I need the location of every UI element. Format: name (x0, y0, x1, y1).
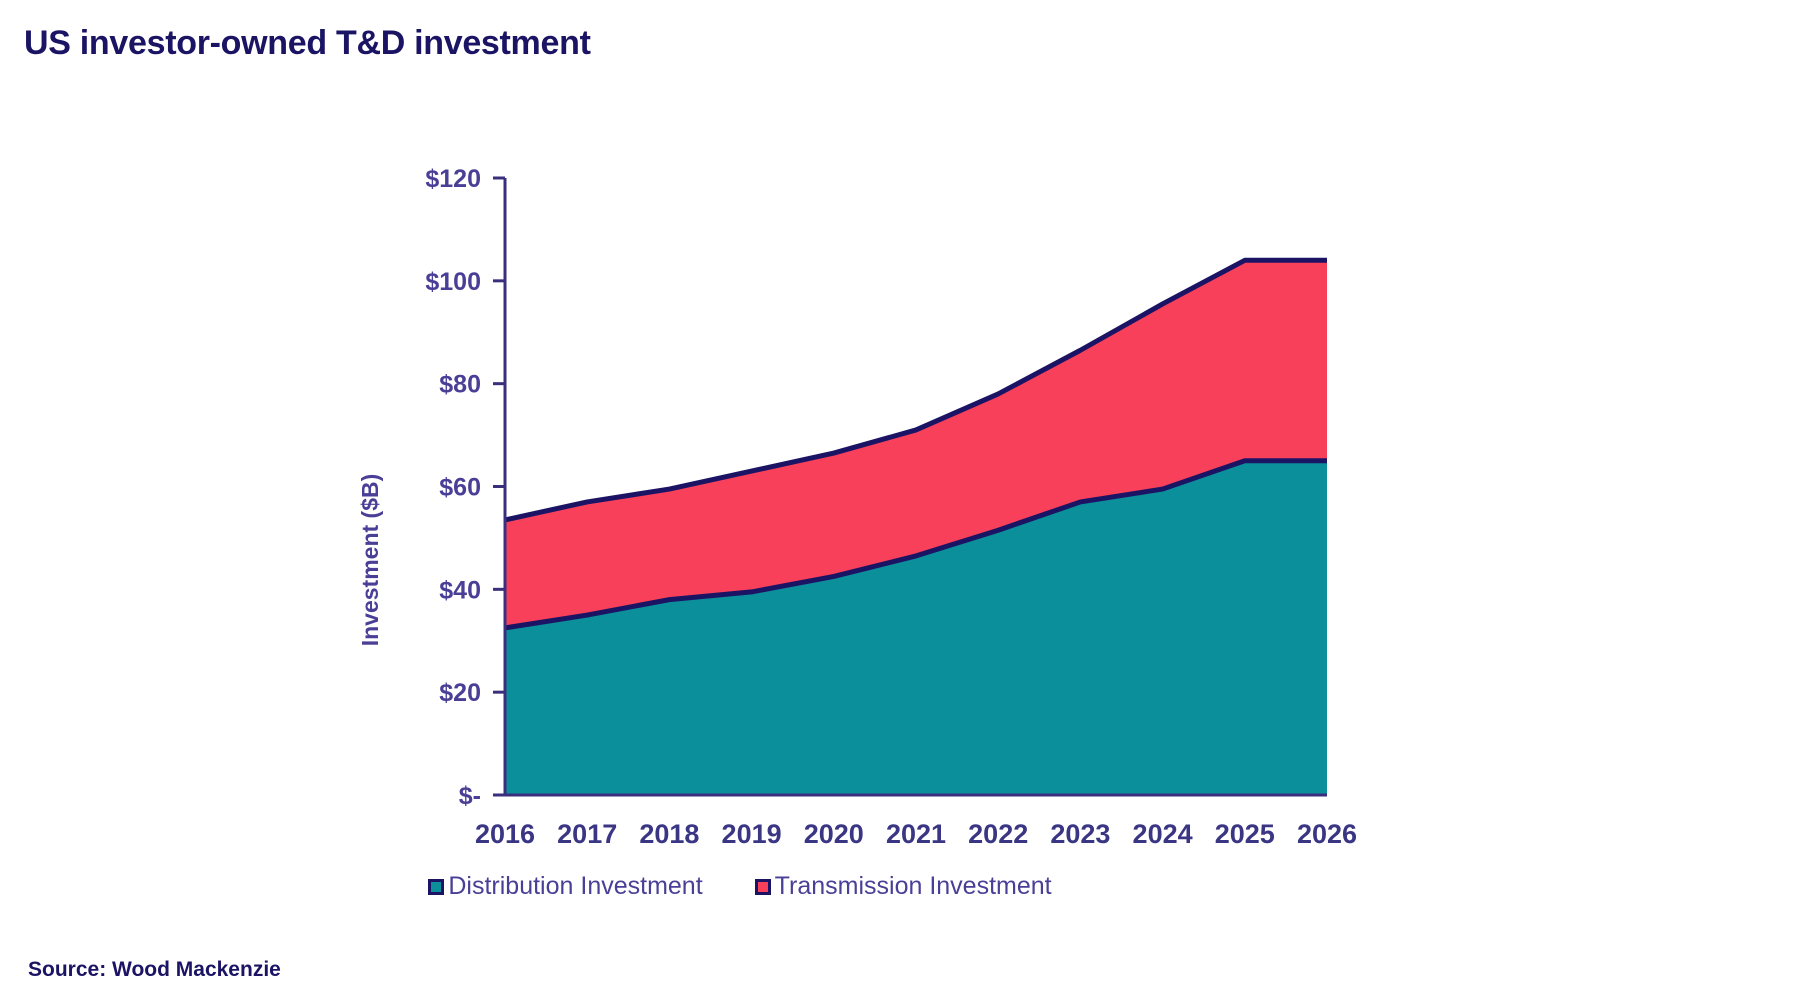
x-tick-label: 2022 (968, 819, 1028, 849)
legend-label-distribution: Distribution Investment (448, 872, 702, 901)
page-title: US investor-owned T&D investment (24, 24, 591, 63)
x-tick-label: 2026 (1297, 819, 1357, 849)
x-tick-label: 2018 (639, 819, 699, 849)
x-tick-label: 2025 (1215, 819, 1275, 849)
x-axis-tick-labels: 2016201720182019202020212022202320242025… (475, 819, 1357, 849)
y-tick-label: $40 (439, 576, 481, 604)
legend-item-transmission[interactable]: Transmission Investment (755, 872, 1052, 901)
x-tick-label: 2023 (1050, 819, 1110, 849)
x-tick-label: 2021 (886, 819, 946, 849)
x-tick-label: 2020 (804, 819, 864, 849)
y-tick-label: $- (459, 782, 481, 810)
y-tick-label: $100 (425, 268, 481, 296)
x-tick-label: 2019 (722, 819, 782, 849)
y-tick-label: $80 (439, 371, 481, 399)
stacked-area-chart: $-$20$40$60$80$100$120 20162017201820192… (0, 130, 1480, 930)
x-tick-label: 2017 (557, 819, 617, 849)
legend-label-transmission: Transmission Investment (775, 872, 1052, 901)
legend-swatch-transmission (755, 879, 771, 895)
legend-item-distribution[interactable]: Distribution Investment (428, 872, 702, 901)
legend-swatch-distribution (428, 879, 444, 895)
y-tick-label: $20 (439, 679, 481, 707)
chart-legend: Distribution Investment Transmission Inv… (0, 872, 1480, 901)
y-tick-label: $120 (425, 165, 481, 193)
x-tick-label: 2024 (1133, 819, 1193, 849)
y-axis-ticks (493, 178, 505, 795)
y-axis-tick-labels: $-$20$40$60$80$100$120 (425, 165, 481, 810)
source-note: Source: Wood Mackenzie (28, 958, 281, 982)
chart-plot-area: $-$20$40$60$80$100$120 20162017201820192… (0, 130, 1480, 930)
x-tick-label: 2016 (475, 819, 535, 849)
y-axis-title: Investment ($B) (357, 474, 383, 647)
chart-card: US investor-owned T&D investment $-$20$4… (0, 0, 1800, 1007)
y-tick-label: $60 (439, 474, 481, 502)
